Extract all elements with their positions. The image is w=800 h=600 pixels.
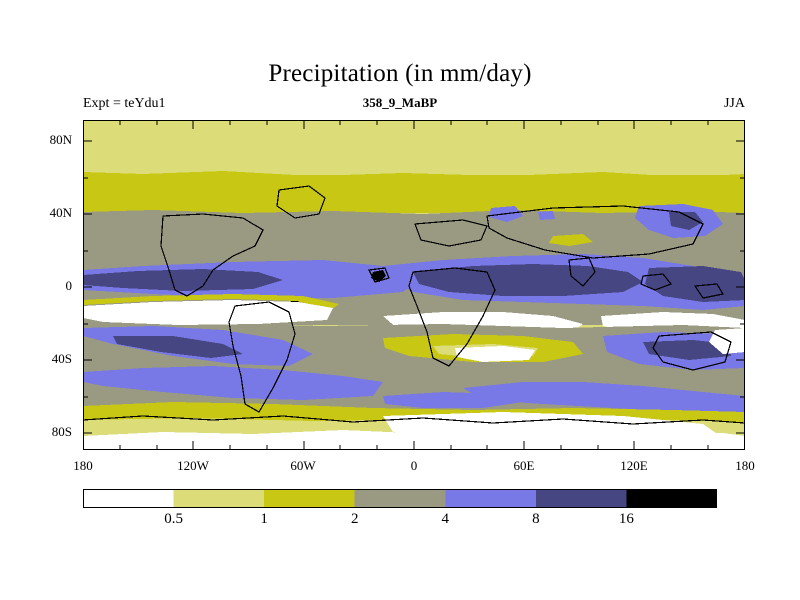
x-tick-label-60w: 60W [263, 458, 343, 474]
colorbar-segment-1 [174, 489, 265, 508]
map-contours [83, 120, 745, 450]
y-tick-label-80s: 80S [26, 424, 72, 440]
colorbar-tick-2: 2 [325, 511, 385, 528]
x-tick-label-120w: 120W [153, 458, 233, 474]
colorbar-segment-0 [83, 489, 174, 508]
x-tick-label-60e: 60E [484, 458, 564, 474]
season-label: JJA [0, 96, 745, 112]
colorbar-swatches [83, 489, 717, 508]
figure-canvas: Precipitation (in mm/day) 358_9_MaBP Exp… [0, 0, 800, 600]
x-tick-label-180e: 180 [705, 458, 785, 474]
y-tick-label-40n: 40N [26, 205, 72, 221]
y-tick-label-80n: 80N [26, 132, 72, 148]
colorbar-tick-4: 4 [415, 511, 475, 528]
page-title: Precipitation (in mm/day) [0, 60, 800, 88]
colorbar-segment-5 [536, 489, 627, 508]
colorbar-segment-3 [355, 489, 446, 508]
colorbar-tick-16: 16 [596, 511, 656, 528]
colorbar [83, 489, 717, 508]
precipitation-map [83, 120, 745, 450]
x-tick-label-0: 0 [374, 458, 454, 474]
y-tick-label-0: 0 [26, 278, 72, 294]
colorbar-tick-1: 1 [234, 511, 294, 528]
colorbar-tick-8: 8 [506, 511, 566, 528]
colorbar-tick-0.5: 0.5 [144, 511, 204, 528]
x-tick-label-120e: 120E [594, 458, 674, 474]
colorbar-segment-6 [626, 489, 717, 508]
colorbar-segment-2 [264, 489, 355, 508]
y-tick-label-40s: 40S [26, 351, 72, 367]
x-tick-label-180w: 180 [43, 458, 123, 474]
colorbar-segment-4 [445, 489, 536, 508]
